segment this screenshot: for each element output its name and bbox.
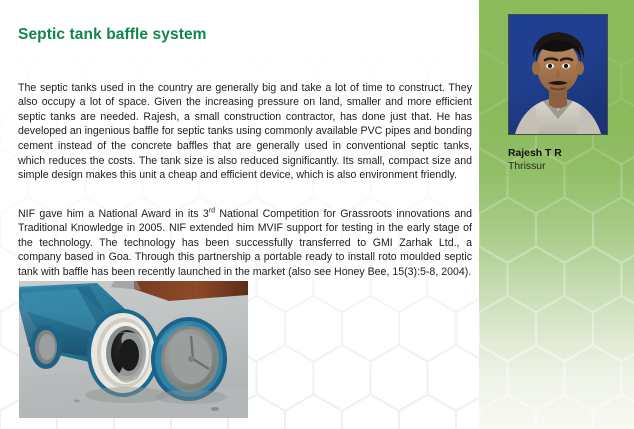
- innovator-sidebar: Rajesh T R Thrissur: [479, 0, 634, 429]
- innovator-name: Rajesh T R: [508, 148, 562, 159]
- article-content: Septic tank baffle system The septic tan…: [0, 0, 479, 429]
- page-title: Septic tank baffle system: [18, 26, 207, 44]
- innovator-location: Thrissur: [508, 161, 546, 172]
- innovator-portrait-photo: [508, 14, 608, 135]
- baffle-pipes-photo: [19, 281, 248, 418]
- paragraph-2-text-before-ordinal: NIF gave him a National Award in its 3: [18, 208, 209, 220]
- page-root: Septic tank baffle system The septic tan…: [0, 0, 634, 429]
- article-paragraph-1: The septic tanks used in the country are…: [18, 81, 472, 183]
- article-paragraph-2: NIF gave him a National Award in its 3rd…: [18, 207, 472, 280]
